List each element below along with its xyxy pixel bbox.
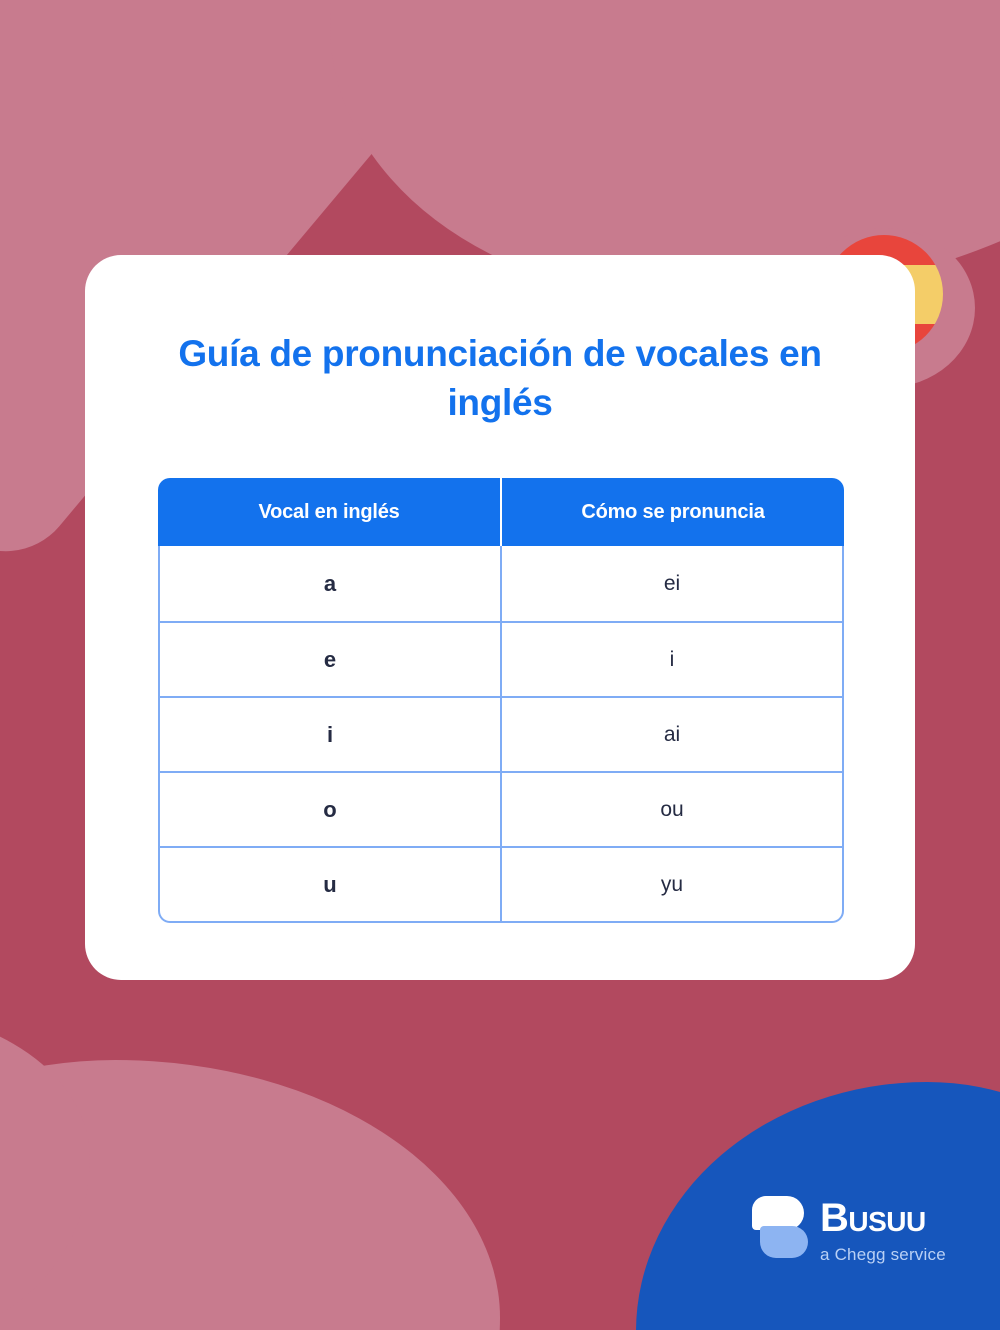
content-card: Guía de pronunciación de vocales en ingl…: [85, 255, 915, 980]
cell-vowel: o: [160, 773, 500, 846]
cell-pronunciation: ai: [500, 698, 842, 771]
table-body: a ei e i i ai o ou u yu: [158, 546, 844, 923]
page-title: Guía de pronunciación de vocales en ingl…: [157, 330, 843, 428]
busuu-wordmark: Busuu: [820, 1198, 946, 1238]
busuu-logo-text: Busuu a Chegg service: [820, 1196, 946, 1263]
cell-pronunciation: yu: [500, 848, 842, 921]
logo-blob-top-icon: [752, 1196, 804, 1230]
busuu-logo: Busuu a Chegg service: [752, 1196, 946, 1263]
logo-blob-bottom-icon: [760, 1226, 808, 1258]
table-row: u yu: [160, 846, 842, 921]
table-row: o ou: [160, 771, 842, 846]
cell-vowel: e: [160, 623, 500, 696]
cell-pronunciation: ou: [500, 773, 842, 846]
busuu-tagline: a Chegg service: [820, 1246, 946, 1263]
table-row: e i: [160, 621, 842, 696]
table-row: i ai: [160, 696, 842, 771]
cell-pronunciation: i: [500, 623, 842, 696]
pronunciation-table: Vocal en inglés Cómo se pronuncia a ei e…: [158, 478, 844, 923]
table-header-vowel: Vocal en inglés: [158, 478, 500, 546]
cell-vowel: i: [160, 698, 500, 771]
cell-vowel: u: [160, 848, 500, 921]
table-header-pronunciation: Cómo se pronuncia: [500, 478, 844, 546]
table-row: a ei: [160, 546, 842, 621]
busuu-logo-icon: [752, 1196, 808, 1258]
cell-vowel: a: [160, 546, 500, 621]
table-header-row: Vocal en inglés Cómo se pronuncia: [158, 478, 844, 546]
cell-pronunciation: ei: [500, 546, 842, 621]
